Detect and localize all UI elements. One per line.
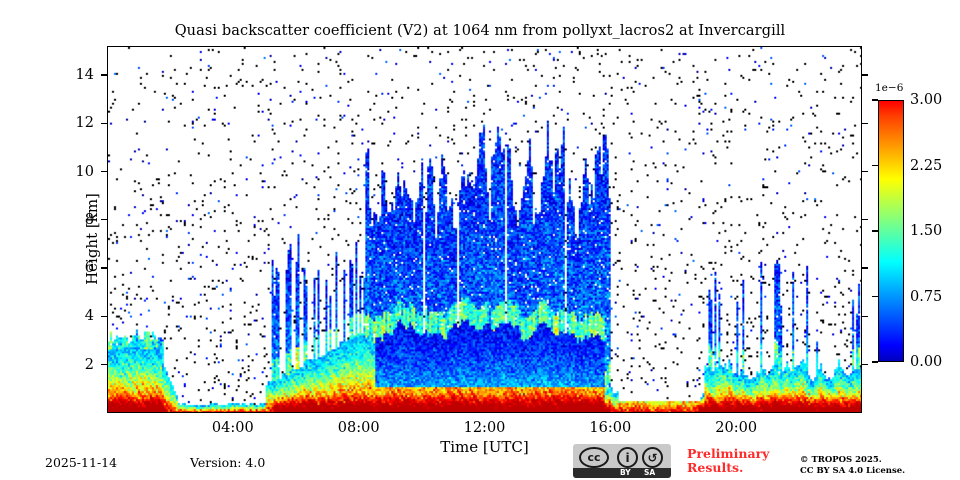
copyright-line-1: © TROPOS 2025.	[800, 455, 905, 466]
y-tick-label: 4	[0, 308, 94, 324]
cc-by-label: BY	[620, 468, 631, 478]
footer-version: Version: 4.0	[190, 455, 265, 470]
y-tick-label: 6	[0, 260, 94, 276]
colorbar-tick-mark	[872, 361, 878, 362]
y-tick-mark	[101, 74, 107, 75]
y-tick-mark	[862, 74, 868, 75]
x-tick-mark	[0, 135, 1, 142]
colorbar-tick-mark	[872, 230, 878, 231]
x-tick-label: 04:00	[212, 420, 254, 436]
x-tick-label: 20:00	[715, 420, 757, 436]
quasi-backscatter-heatmap	[108, 47, 861, 412]
y-tick-label: 12	[0, 115, 94, 131]
cc-sa-icon: ↺	[642, 447, 663, 468]
copyright-line-2: CC BY SA 4.0 License.	[800, 466, 905, 477]
heatmap-canvas-wrapper	[108, 47, 861, 412]
preliminary-results-notice: Preliminary Results.	[687, 447, 782, 475]
y-tick-mark	[101, 123, 107, 124]
x-tick-label: 16:00	[589, 420, 631, 436]
colorbar-tick-mark	[872, 165, 878, 166]
x-tick-mark	[0, 40, 1, 47]
y-tick-mark	[101, 364, 107, 365]
cc-icon: cc	[579, 447, 609, 468]
preliminary-line-1: Preliminary	[687, 447, 782, 461]
y-tick-label: 2	[0, 357, 94, 373]
y-tick-mark	[862, 364, 868, 365]
colorbar-tick-label: 2.25	[910, 158, 942, 174]
cc-by-sa-license-badge[interactable]: cc i ↺ BY SA	[573, 444, 671, 478]
colorbar-tick-label: 0.75	[910, 289, 942, 305]
y-tick-mark	[101, 219, 107, 220]
y-tick-mark	[862, 123, 868, 124]
page-title: Quasi backscatter coefficient (V2) at 10…	[0, 23, 960, 39]
x-tick-mark	[0, 84, 1, 91]
cc-by-icon: i	[617, 447, 638, 468]
colorbar-tick-mark	[872, 99, 878, 100]
x-tick-mark	[0, 91, 1, 98]
lidar-quicklook-figure: Quasi backscatter coefficient (V2) at 10…	[0, 0, 960, 480]
x-tick-mark	[0, 179, 1, 186]
colorbar-tick-label: 0.00	[910, 354, 942, 370]
y-tick-mark	[101, 316, 107, 317]
preliminary-line-2: Results.	[687, 461, 782, 475]
colorbar	[878, 100, 904, 362]
y-tick-mark	[101, 267, 107, 268]
colorbar-tick-label: 3.00	[910, 92, 942, 108]
y-tick-label: 14	[0, 67, 94, 83]
y-tick-mark	[862, 171, 868, 172]
y-tick-label: 8	[0, 212, 94, 228]
copyright-notice: © TROPOS 2025. CC BY SA 4.0 License.	[800, 455, 905, 477]
colorbar-tick-label: 1.50	[910, 223, 942, 239]
x-tick-label: 12:00	[464, 420, 506, 436]
colorbar-tick-mark	[872, 296, 878, 297]
plot-axes[interactable]	[107, 46, 862, 413]
y-axis-title: Height [km]	[83, 139, 101, 339]
y-tick-mark	[862, 316, 868, 317]
colorbar-exponent-label: 1e−6	[875, 82, 903, 94]
x-tick-label: 08:00	[338, 420, 380, 436]
cc-sa-label: SA	[644, 468, 655, 478]
footer-date: 2025-11-14	[45, 455, 117, 470]
y-tick-label: 10	[0, 164, 94, 180]
y-tick-mark	[101, 171, 107, 172]
y-tick-mark	[862, 219, 868, 220]
x-tick-mark	[0, 47, 1, 54]
y-tick-mark	[862, 267, 868, 268]
